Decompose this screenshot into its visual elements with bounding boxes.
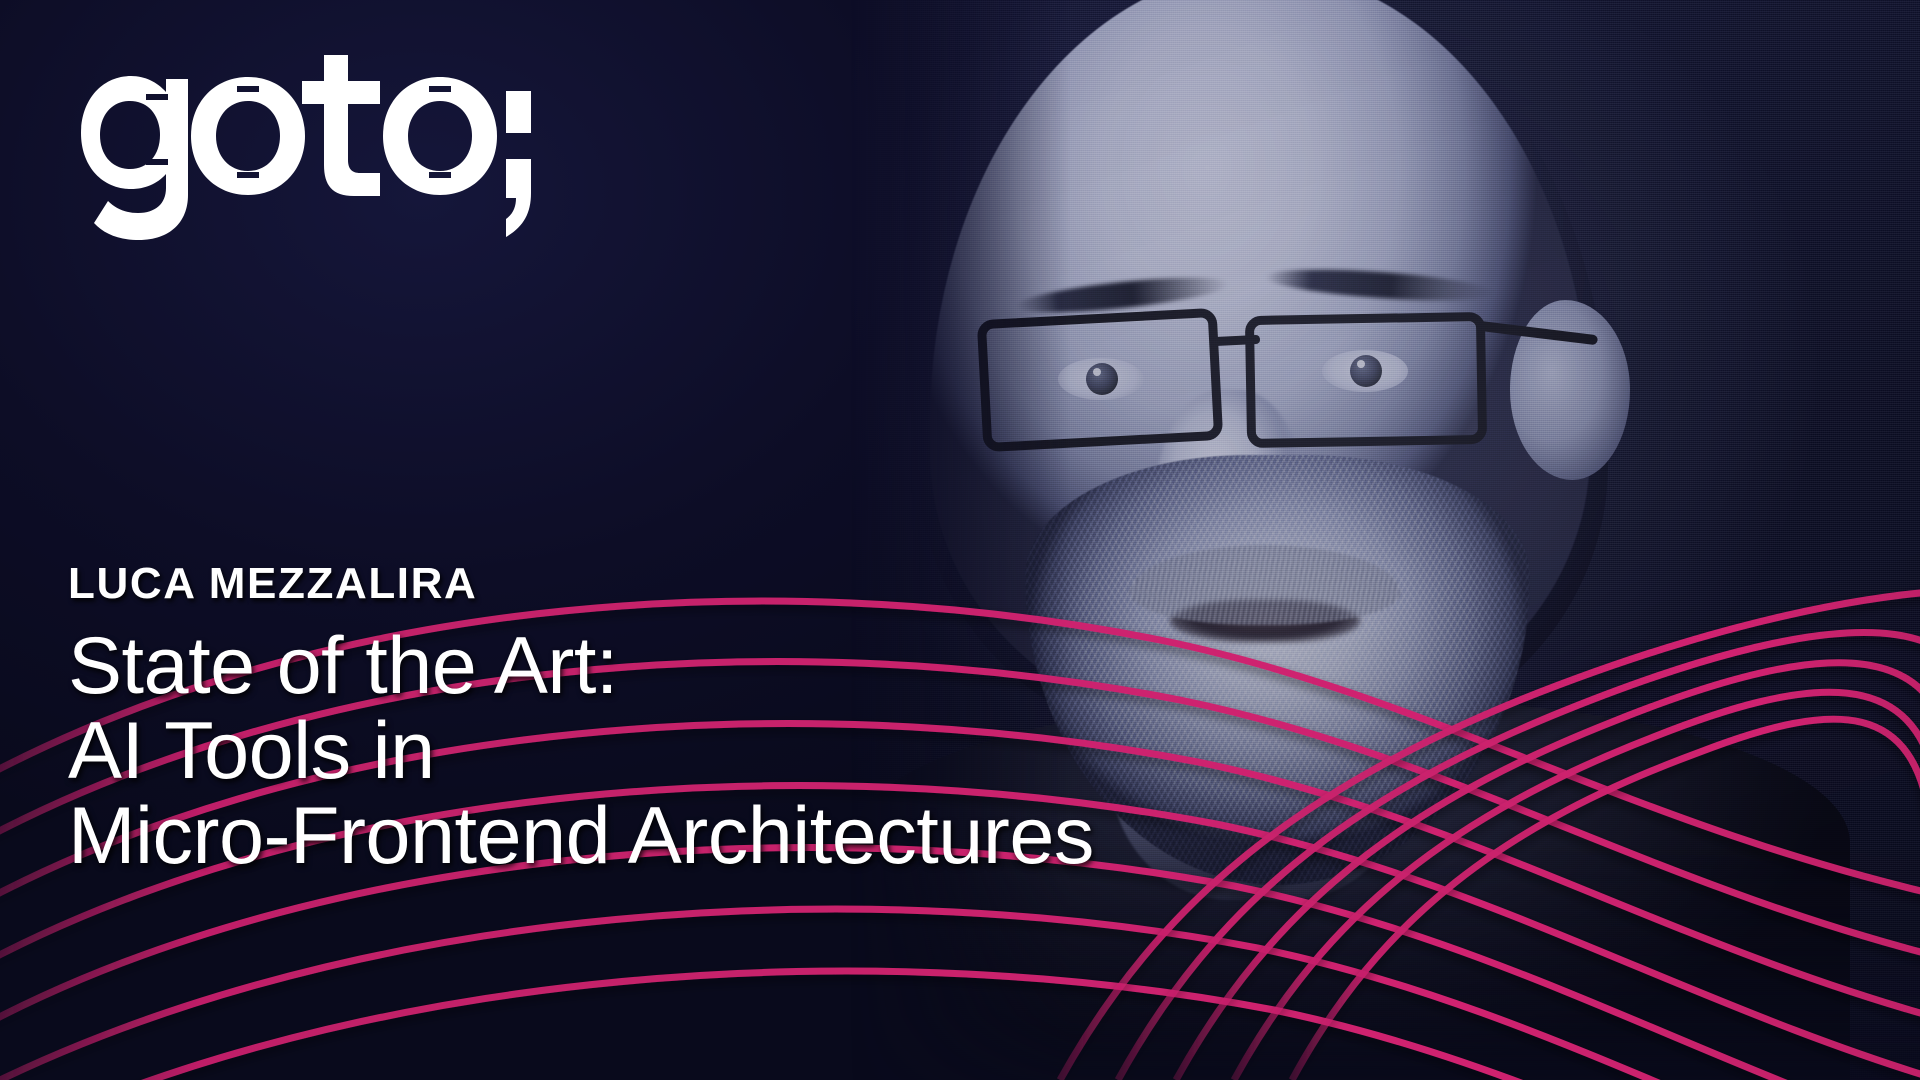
talk-text-block: LUCA MEZZALIRA State of the Art: AI Tool… — [68, 560, 1628, 880]
talk-title: State of the Art: AI Tools in Micro-Fron… — [68, 624, 1628, 879]
logo-letter-g — [81, 76, 188, 240]
conference-talk-slide: goto; LUCA MEZZALIRA State of the Art: A… — [0, 0, 1920, 1080]
talk-title-line-1: State of the Art: — [68, 624, 1628, 709]
portrait-grain — [810, 0, 1920, 1080]
goto-logo: goto; — [62, 55, 532, 240]
speaker-name: LUCA MEZZALIRA — [68, 560, 1628, 608]
speaker-portrait — [810, 0, 1920, 1080]
talk-title-line-3: Micro-Frontend Architectures — [68, 794, 1628, 879]
talk-title-line-2: AI Tools in — [68, 709, 1628, 794]
logo-semicolon — [506, 91, 531, 237]
logo-letter-o-2 — [383, 77, 497, 195]
logo-letter-o-1 — [191, 77, 305, 195]
logo-letter-t — [302, 55, 380, 196]
goto-logo-mark — [62, 55, 532, 240]
